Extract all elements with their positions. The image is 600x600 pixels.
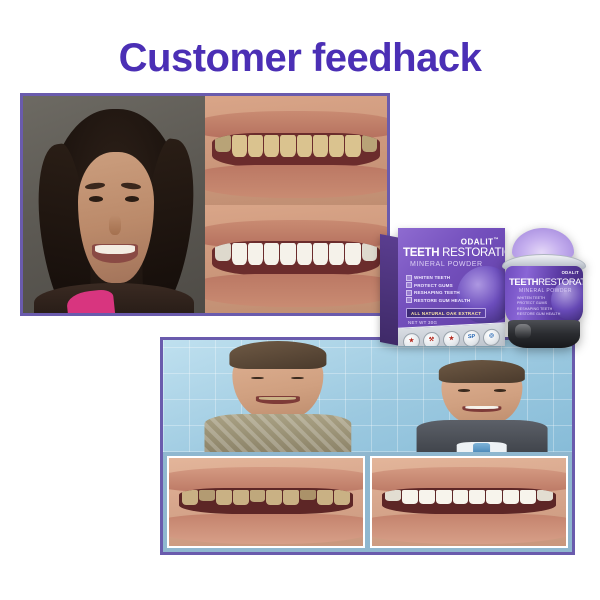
smile-mouth bbox=[255, 396, 299, 404]
eye-left bbox=[458, 389, 470, 391]
mouth-after-white-teeth bbox=[205, 205, 387, 314]
necktie bbox=[474, 443, 491, 453]
canada-flag-seal: ⚒ bbox=[423, 331, 440, 346]
testimonial-panel-woman bbox=[20, 93, 390, 316]
box-product-subtitle: MINERAL POWDER bbox=[410, 261, 483, 268]
product-box: ODALIT™ TEETH RESTORATION MINERAL POWDER… bbox=[380, 228, 505, 348]
benefit-item: RESHAPING TEETH bbox=[406, 289, 470, 297]
suit-jacket bbox=[417, 420, 548, 452]
maple-leaf-seal: ★ bbox=[403, 332, 420, 346]
nose-shape bbox=[109, 215, 122, 235]
eye-right bbox=[125, 196, 140, 202]
jar-product-title: TEETHRESTORATION bbox=[509, 277, 581, 288]
lower-lip bbox=[205, 274, 387, 307]
smile-mouth bbox=[92, 244, 138, 264]
casual-shirt bbox=[204, 414, 351, 453]
maple-leaf-seal-2: ★ bbox=[443, 330, 460, 346]
box-product-title: TEETH RESTORATION bbox=[403, 247, 502, 259]
jar-label: ODALIT TEETHRESTORATION MINERAL POWDER W… bbox=[505, 266, 583, 324]
box-front-panel: ODALIT™ TEETH RESTORATION MINERAL POWDER… bbox=[398, 228, 505, 346]
benefit-item: RESTORE GUM HEALTH bbox=[517, 312, 560, 317]
studio-backdrop bbox=[163, 340, 572, 452]
man-suit-after-photo bbox=[417, 362, 548, 452]
eye-right bbox=[494, 389, 506, 391]
checkbox-icon bbox=[406, 297, 412, 303]
jar-base bbox=[508, 320, 580, 348]
jar-product-subtitle: MINERAL POWDER bbox=[519, 288, 572, 294]
man-casual-shirt-before-photo bbox=[204, 345, 351, 453]
certification-seal-row: ★ ⚒ ★ SP ◎ bbox=[398, 322, 505, 346]
checkbox-icon bbox=[406, 282, 412, 288]
page-title: Customer feedhack bbox=[0, 36, 600, 81]
smiling-woman-portrait-photo bbox=[23, 96, 205, 313]
eye-left bbox=[89, 196, 104, 202]
testimonial-panel-man bbox=[160, 337, 575, 555]
hair-shape bbox=[229, 341, 326, 369]
teeth-row bbox=[95, 245, 135, 254]
box-net-weight: NET WT 30G bbox=[408, 320, 437, 325]
checkbox-icon bbox=[406, 275, 412, 281]
checkbox-icon bbox=[406, 290, 412, 296]
box-benefit-list: WHITEN TEETH PROTECT GUMS RESHAPING TEET… bbox=[406, 274, 470, 304]
closeup-white-teeth-after bbox=[370, 456, 568, 548]
teeth-row-before bbox=[212, 133, 379, 168]
box-ingredient-banner: ALL NATURAL OAK EXTRACT bbox=[406, 308, 486, 318]
mouth-comparison-photos bbox=[205, 96, 387, 313]
closeup-damaged-teeth-before bbox=[167, 456, 365, 548]
mouth-before-yellow-teeth bbox=[205, 96, 387, 205]
box-side-panel bbox=[380, 234, 400, 346]
lower-lip bbox=[167, 514, 365, 544]
hair-shape bbox=[439, 360, 525, 383]
closeup-comparison-row bbox=[163, 452, 572, 552]
benefit-item: PROTECT GUMS bbox=[406, 282, 470, 290]
sp-certification-seal: SP bbox=[463, 329, 480, 346]
teeth-row-after bbox=[212, 241, 379, 276]
jar-brand-name: ODALIT bbox=[505, 270, 579, 275]
benefit-item: RESTORE GUM HEALTH bbox=[406, 297, 470, 305]
benefit-item: WHITEN TEETH bbox=[406, 274, 470, 282]
lower-lip bbox=[205, 165, 387, 198]
box-brand-name: ODALIT™ bbox=[398, 237, 499, 247]
teeth-row-after bbox=[382, 488, 557, 514]
teeth-row-before bbox=[179, 488, 354, 514]
product-jar: ODALIT TEETHRESTORATION MINERAL POWDER W… bbox=[498, 228, 590, 350]
jar-benefit-list: WHITEN TEETH PROTECT GUMS RESHAPING TEET… bbox=[517, 296, 560, 318]
lower-lip bbox=[370, 514, 568, 544]
